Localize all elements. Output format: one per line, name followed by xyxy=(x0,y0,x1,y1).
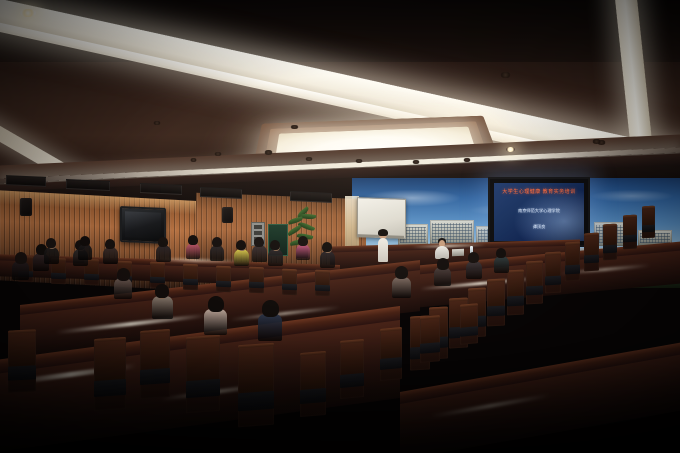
projection-screen[interactable]: 大学生心理健康 教育实务培训 南京师范大学心理学院 谭顶良 xyxy=(488,177,590,247)
attendee-body xyxy=(156,245,171,262)
attendee-hair xyxy=(254,237,264,247)
attendee-body xyxy=(186,243,200,259)
ceiling-vent xyxy=(140,183,182,195)
attendee-hair xyxy=(117,268,130,281)
chair-back xyxy=(527,261,542,289)
slide-title: 大学生心理健康 教育实务培训 xyxy=(494,188,584,195)
attendee xyxy=(252,237,267,261)
chair-back xyxy=(187,335,219,384)
conference-chair-inner-right[interactable] xyxy=(340,339,364,399)
chair-back xyxy=(301,351,325,393)
ceiling-downlight xyxy=(355,159,363,163)
ceiling-downlight xyxy=(305,157,313,161)
ceiling-vent xyxy=(290,191,332,203)
chair-seat xyxy=(487,306,505,317)
laptop[interactable] xyxy=(452,249,464,256)
wall-speaker-left-icon xyxy=(20,198,32,216)
ceiling-downlight xyxy=(190,158,197,162)
attendee-hair xyxy=(262,300,279,317)
chair-back xyxy=(585,233,598,258)
attendee xyxy=(320,242,335,267)
chair-seat xyxy=(238,391,274,412)
presenter-hair xyxy=(378,229,388,236)
conference-chair-foreground[interactable] xyxy=(8,329,36,392)
attendee xyxy=(78,236,92,259)
chair-back xyxy=(239,343,273,396)
ceiling-downlight xyxy=(264,150,273,155)
chair-back xyxy=(488,279,504,309)
attendee xyxy=(234,240,249,265)
chair-seat xyxy=(623,235,637,243)
chair-seat xyxy=(507,296,524,307)
conference-chair-inner-right[interactable] xyxy=(460,303,478,345)
chair-back xyxy=(508,270,523,299)
chair-seat xyxy=(380,357,402,370)
chair-seat xyxy=(420,342,440,354)
ceiling-vent xyxy=(6,175,46,187)
attendee-hair xyxy=(437,258,449,270)
chair-seat xyxy=(183,279,198,286)
attendee-body xyxy=(152,296,173,319)
chair-top-rail xyxy=(249,267,264,271)
conference-chair-back-row[interactable] xyxy=(282,269,297,296)
ceiling-downlight xyxy=(412,160,420,164)
attendee-hair xyxy=(158,237,168,247)
chair-seat xyxy=(526,286,543,296)
attendee xyxy=(466,252,482,277)
attendee-body xyxy=(466,261,482,279)
ceiling-downlight xyxy=(500,72,511,78)
control-panel-row xyxy=(254,231,262,235)
conference-chair-foreground[interactable] xyxy=(186,335,220,413)
chair-seat xyxy=(315,285,330,292)
conference-chair-right-row[interactable] xyxy=(526,261,543,305)
attendee-hair xyxy=(236,240,246,250)
chair-seat xyxy=(216,281,231,288)
attendee xyxy=(12,252,29,279)
conference-chair-right-row[interactable] xyxy=(584,233,599,272)
ceiling-vent xyxy=(66,179,110,191)
attendee xyxy=(44,238,59,263)
conference-chair-right-row[interactable] xyxy=(565,242,580,282)
attendee-hair xyxy=(298,236,308,246)
chair-back xyxy=(421,315,439,346)
attendee-body xyxy=(258,314,282,341)
conference-chair-back-row[interactable] xyxy=(249,267,264,294)
ceiling-downlight xyxy=(214,152,222,156)
chair-seat xyxy=(545,276,561,286)
right-foreground-table xyxy=(400,347,680,453)
attendee-hair xyxy=(496,248,506,258)
chair-top-rail xyxy=(183,264,198,268)
attendee xyxy=(114,268,132,298)
attendee-body xyxy=(320,251,335,268)
conference-chair-right-row[interactable] xyxy=(545,252,561,294)
tv-screen xyxy=(125,211,161,239)
attendee-body xyxy=(210,245,224,261)
chair-back xyxy=(381,327,401,361)
attendee-body xyxy=(268,249,283,266)
attendee-hair xyxy=(155,284,169,298)
attendee xyxy=(204,296,227,334)
attendee xyxy=(156,237,171,261)
attendee-hair xyxy=(208,296,224,312)
attendee-hair xyxy=(395,266,408,279)
attendee xyxy=(434,258,451,285)
chair-top-rail xyxy=(282,269,297,273)
ceiling-downlight xyxy=(506,147,515,152)
chair-seat xyxy=(282,284,297,291)
conference-chair-foreground[interactable] xyxy=(238,343,274,428)
attendee xyxy=(152,284,173,318)
attendee-body xyxy=(103,247,118,264)
chair-top-rail xyxy=(315,270,330,274)
chair-seat xyxy=(603,245,617,254)
attendee xyxy=(210,237,224,260)
attendee-body xyxy=(204,309,227,335)
attendee-body xyxy=(78,244,92,260)
chair-seat xyxy=(460,326,478,337)
chair-seat xyxy=(584,255,599,264)
attendee-hair xyxy=(105,239,115,249)
seated-host xyxy=(434,238,450,260)
presenter-body xyxy=(378,238,388,262)
attendee xyxy=(392,266,411,297)
ceiling-downlight xyxy=(20,9,36,17)
conference-room-photo: 大学生心理健康 教育实务培训 南京师范大学心理学院 谭顶良 xyxy=(0,0,680,453)
chair-seat xyxy=(8,365,36,380)
conference-chair-back-row[interactable] xyxy=(315,270,330,297)
attendee-body xyxy=(296,244,310,260)
slide-line-1: 南京师范大学心理学院 xyxy=(494,208,584,214)
attendee-hair xyxy=(188,235,198,245)
conference-chair-back-row[interactable] xyxy=(216,266,231,293)
conference-chair-right-row[interactable] xyxy=(507,270,524,316)
chair-top-rail xyxy=(216,266,231,270)
chair-seat xyxy=(340,373,364,388)
chair-top-rail xyxy=(117,261,132,265)
projection-screen-surface: 大学生心理健康 教育实务培训 南京师范大学心理学院 谭顶良 xyxy=(494,183,584,241)
wall-speaker-mid-icon xyxy=(222,207,233,223)
chair-seat xyxy=(140,368,170,385)
chair-seat xyxy=(94,379,126,397)
attendee xyxy=(103,239,118,263)
attendee-body xyxy=(252,245,267,262)
conference-chair-back-row[interactable] xyxy=(183,264,198,291)
attendee-hair xyxy=(468,252,479,263)
attendee-body xyxy=(494,256,509,273)
chair-back xyxy=(566,242,579,267)
chair-seat xyxy=(642,225,655,233)
ceiling-downlight xyxy=(592,139,601,144)
conference-chair-right-row[interactable] xyxy=(603,224,617,261)
attendee-hair xyxy=(322,242,332,252)
attendee xyxy=(494,248,509,272)
ceiling-downlight xyxy=(463,158,471,162)
conference-chair-right-row[interactable] xyxy=(642,206,655,239)
conference-chair-inner-right[interactable] xyxy=(380,327,402,381)
attendee-hair xyxy=(15,252,27,264)
attendee xyxy=(186,235,200,258)
presenter xyxy=(376,230,390,264)
ceiling-downlight xyxy=(153,121,161,125)
conference-chair-inner-right[interactable] xyxy=(300,351,326,417)
conference-chair-foreground[interactable] xyxy=(140,329,170,399)
attendee xyxy=(296,236,310,259)
chair-seat xyxy=(150,277,165,284)
chair-back xyxy=(95,337,125,384)
attendee-hair xyxy=(46,238,56,248)
chair-seat xyxy=(186,379,220,398)
attendee-body xyxy=(392,277,411,298)
chair-back xyxy=(9,329,35,368)
attendee-hair xyxy=(270,240,280,250)
attendee-body xyxy=(114,278,132,299)
chair-back xyxy=(546,252,560,278)
chair-seat xyxy=(84,274,99,281)
chair-seat xyxy=(51,273,66,280)
chair-seat xyxy=(300,388,326,404)
chair-back xyxy=(341,339,363,377)
control-panel-row xyxy=(254,225,262,229)
conference-chair-right-row[interactable] xyxy=(623,215,637,250)
attendee-body xyxy=(44,247,59,264)
chair-top-rail xyxy=(150,262,165,266)
conference-chair-inner-right[interactable] xyxy=(420,315,440,363)
attendee-body xyxy=(234,249,249,266)
attendee xyxy=(258,300,282,339)
conference-chair-foreground[interactable] xyxy=(94,337,126,411)
attendee xyxy=(268,240,283,265)
conference-chair-right-row[interactable] xyxy=(487,279,505,327)
slide-line-2: 谭顶良 xyxy=(494,224,584,230)
attendee-hair xyxy=(80,236,90,246)
chair-seat xyxy=(565,265,580,275)
ceiling-vent xyxy=(200,187,242,199)
chair-seat xyxy=(249,282,264,289)
ceiling-downlight xyxy=(290,125,299,129)
chair-back xyxy=(141,329,169,373)
attendee-hair xyxy=(212,237,222,247)
